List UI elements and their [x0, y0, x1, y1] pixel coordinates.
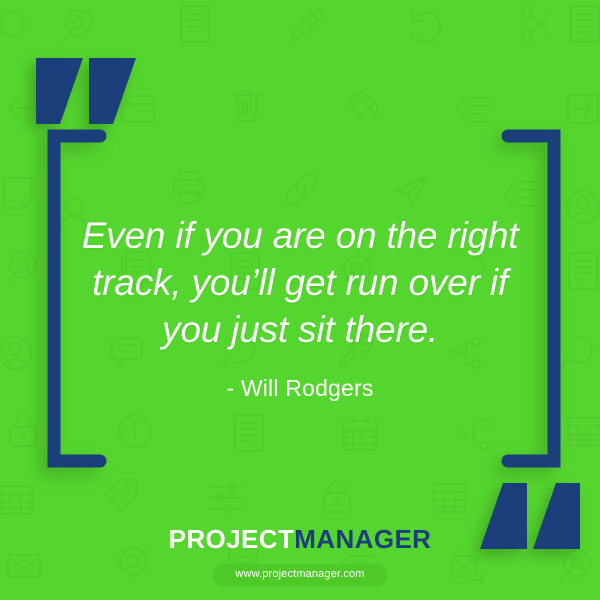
brand-logo: PROJECTMANAGER: [0, 526, 600, 552]
quote-author: - Will Rodgers: [70, 375, 530, 402]
quote-text: Even if you are on the right track, you’…: [70, 212, 530, 353]
quote-container: Even if you are on the right track, you’…: [70, 212, 530, 402]
brand-logo-project: PROJECT: [169, 524, 295, 554]
brand-url-badge[interactable]: www.projectmanager.com: [213, 564, 386, 586]
brand-logo-manager: MANAGER: [294, 524, 431, 554]
quote-card: Even if you are on the right track, you’…: [0, 0, 600, 600]
brand-footer: PROJECTMANAGER www.projectmanager.com: [0, 526, 600, 586]
